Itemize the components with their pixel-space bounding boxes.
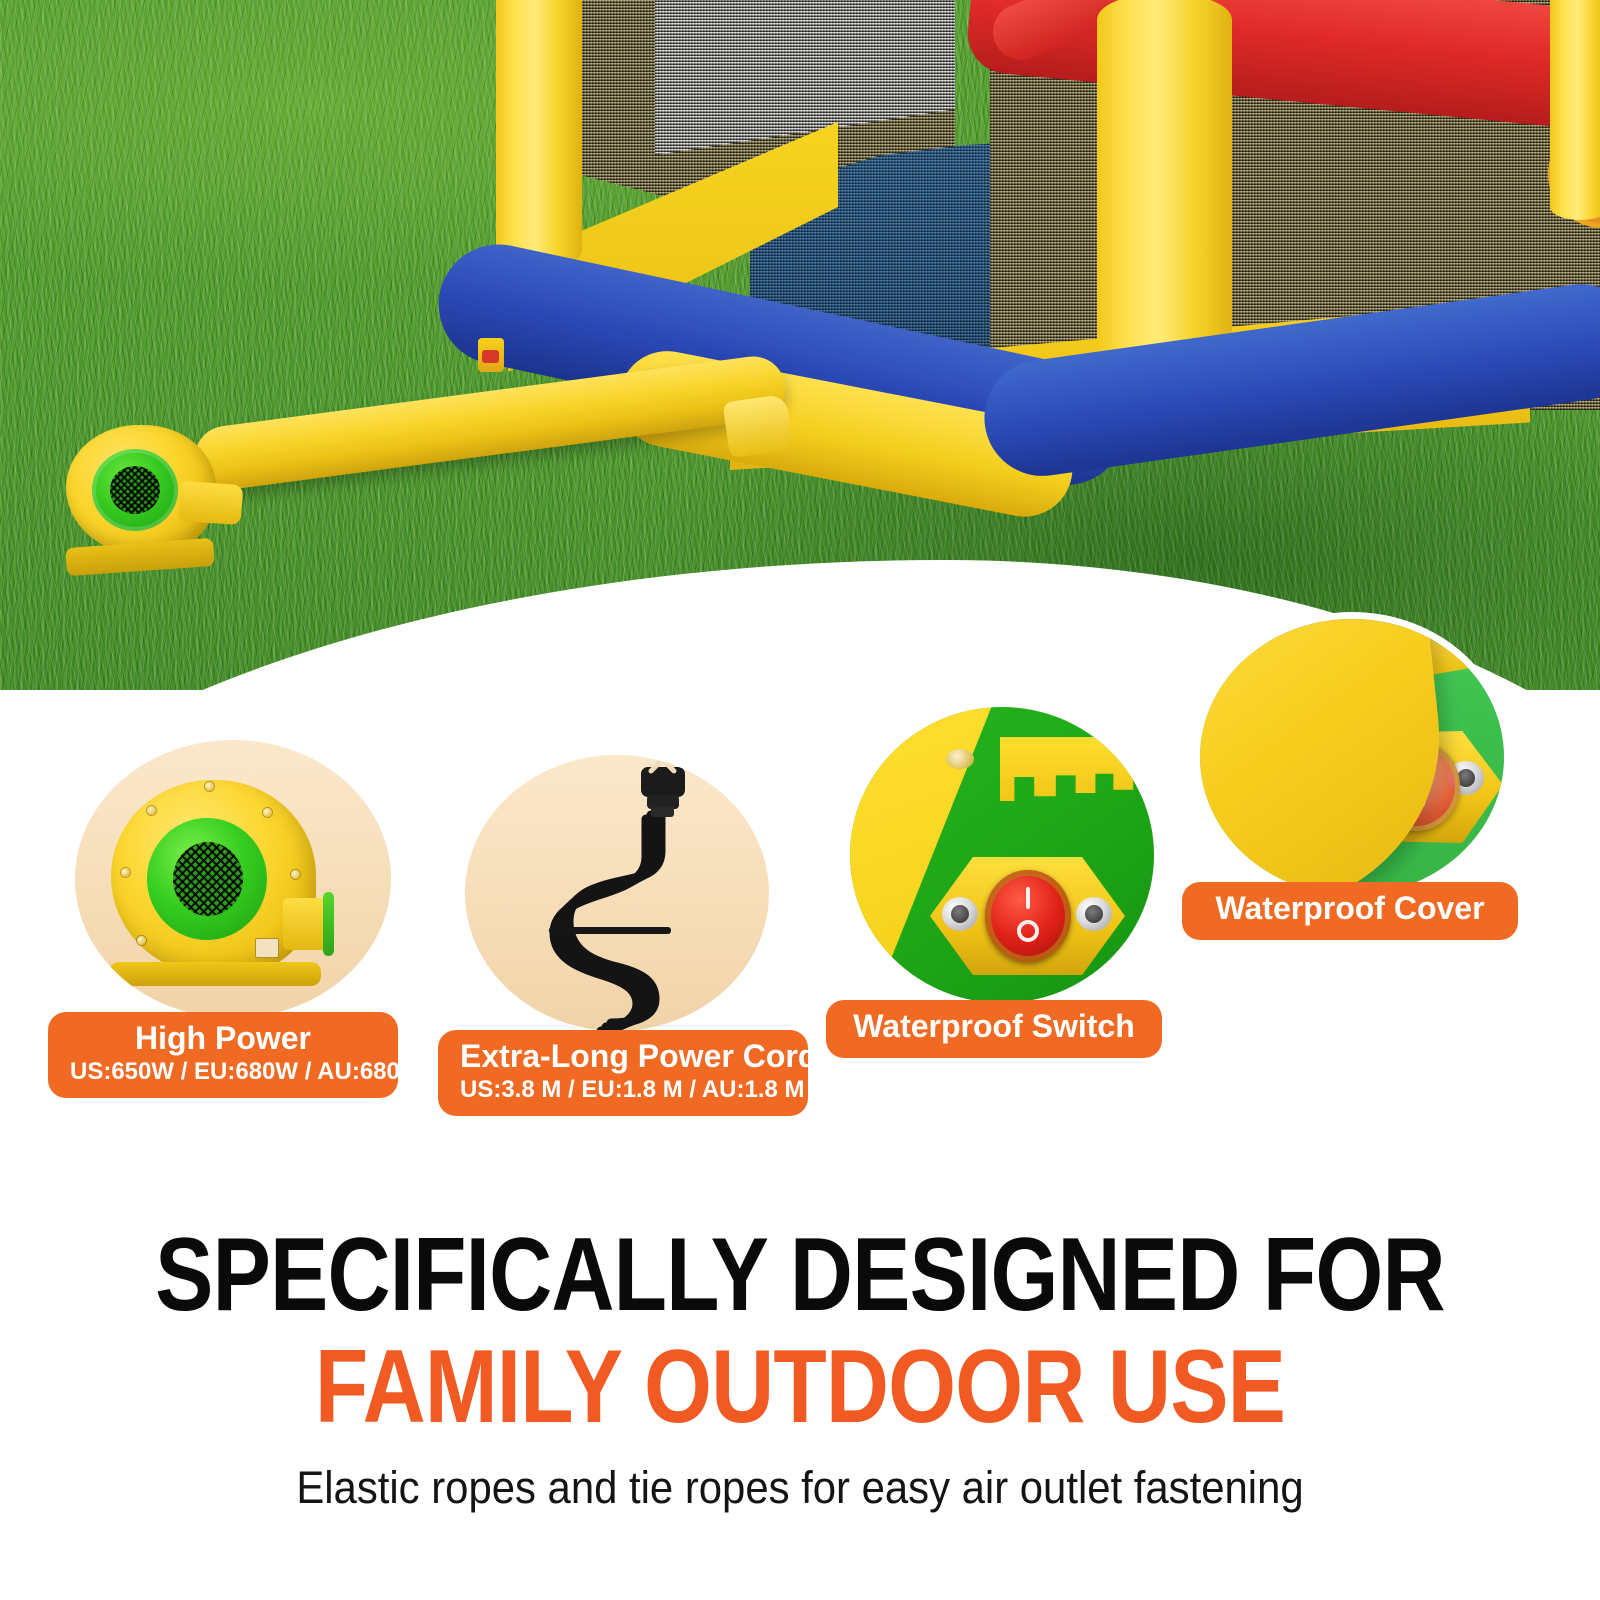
blower-illustration (105, 780, 335, 995)
feature-circle-waterproof-cover (1193, 612, 1511, 902)
bolt-icon (263, 808, 272, 817)
bounce-house (430, 0, 1600, 650)
badge-waterproof-cover: Waterproof Cover (1182, 882, 1518, 940)
badge-subtitle: US:650W / EU:680W / AU:680W (70, 1058, 376, 1087)
product-feature-graphic: High Power US:650W / EU:680W / AU:680W E… (0, 0, 1600, 1600)
feature-circle-waterproof-switch (843, 700, 1161, 1010)
badge-power-cord: Extra-Long Power Cord US:3.8 M / EU:1.8 … (438, 1030, 808, 1116)
badge-title: Waterproof Cover (1204, 890, 1496, 929)
feature-image-switch (850, 707, 1154, 1003)
badge-title: High Power (70, 1020, 376, 1057)
headline-block: SPECIFICALLY DESIGNED FOR FAMILY OUTDOOR… (0, 1222, 1600, 1514)
blower-intake-ring (92, 449, 178, 531)
bolt-icon (137, 936, 146, 945)
screw-icon[interactable] (1076, 897, 1112, 931)
yellow-post-left (496, 0, 582, 270)
power-cord-illustration (465, 755, 776, 1038)
bolt-icon (147, 806, 156, 815)
bolt-icon (291, 870, 300, 879)
badge-title: Extra-Long Power Cord (460, 1038, 786, 1075)
blower-outlet (179, 481, 244, 525)
plug-connector-icon (641, 762, 685, 817)
blower-base (65, 538, 215, 576)
headline-line-1: SPECIFICALLY DESIGNED FOR (128, 1222, 1472, 1328)
blower-unit (62, 425, 232, 580)
headline-line-2: FAMILY OUTDOOR USE (128, 1334, 1472, 1440)
switch-on-marking-icon (1026, 887, 1030, 909)
screw-icon[interactable] (942, 897, 978, 931)
blower-mesh-grille-icon (110, 466, 160, 514)
feature-circle-high-power (68, 733, 398, 1025)
blower-mesh-grille-icon (173, 842, 243, 916)
badge-high-power: High Power US:650W / EU:680W / AU:680W (48, 1012, 398, 1098)
feature-image-power-cord (465, 755, 769, 1031)
blower-base (109, 962, 321, 986)
headline-subtitle: Elastic ropes and tie ropes for easy air… (56, 1462, 1544, 1514)
yellow-post-right (1550, 0, 1600, 220)
badge-title: Waterproof Switch (848, 1008, 1140, 1047)
blower-intake-ring (147, 818, 267, 940)
switch-off-marking-icon (1017, 920, 1039, 942)
badge-subtitle: US:3.8 M / EU:1.8 M / AU:1.8 M (460, 1076, 786, 1105)
bolt-icon (205, 782, 214, 791)
badge-waterproof-switch: Waterproof Switch (826, 1000, 1162, 1058)
feature-image-blower (75, 740, 391, 1018)
bolt-icon (121, 868, 130, 877)
power-rocker-switch[interactable] (985, 870, 1071, 962)
feature-circle-power-cord (458, 748, 776, 1038)
warning-label-icon (255, 938, 279, 958)
blower-outlet-flange (323, 892, 334, 956)
screw-icon (946, 749, 974, 769)
air-hose-connector (722, 394, 793, 458)
ground-stake-icon (478, 338, 504, 372)
hero-photo (0, 0, 1600, 700)
feature-image-cover (1200, 619, 1504, 895)
